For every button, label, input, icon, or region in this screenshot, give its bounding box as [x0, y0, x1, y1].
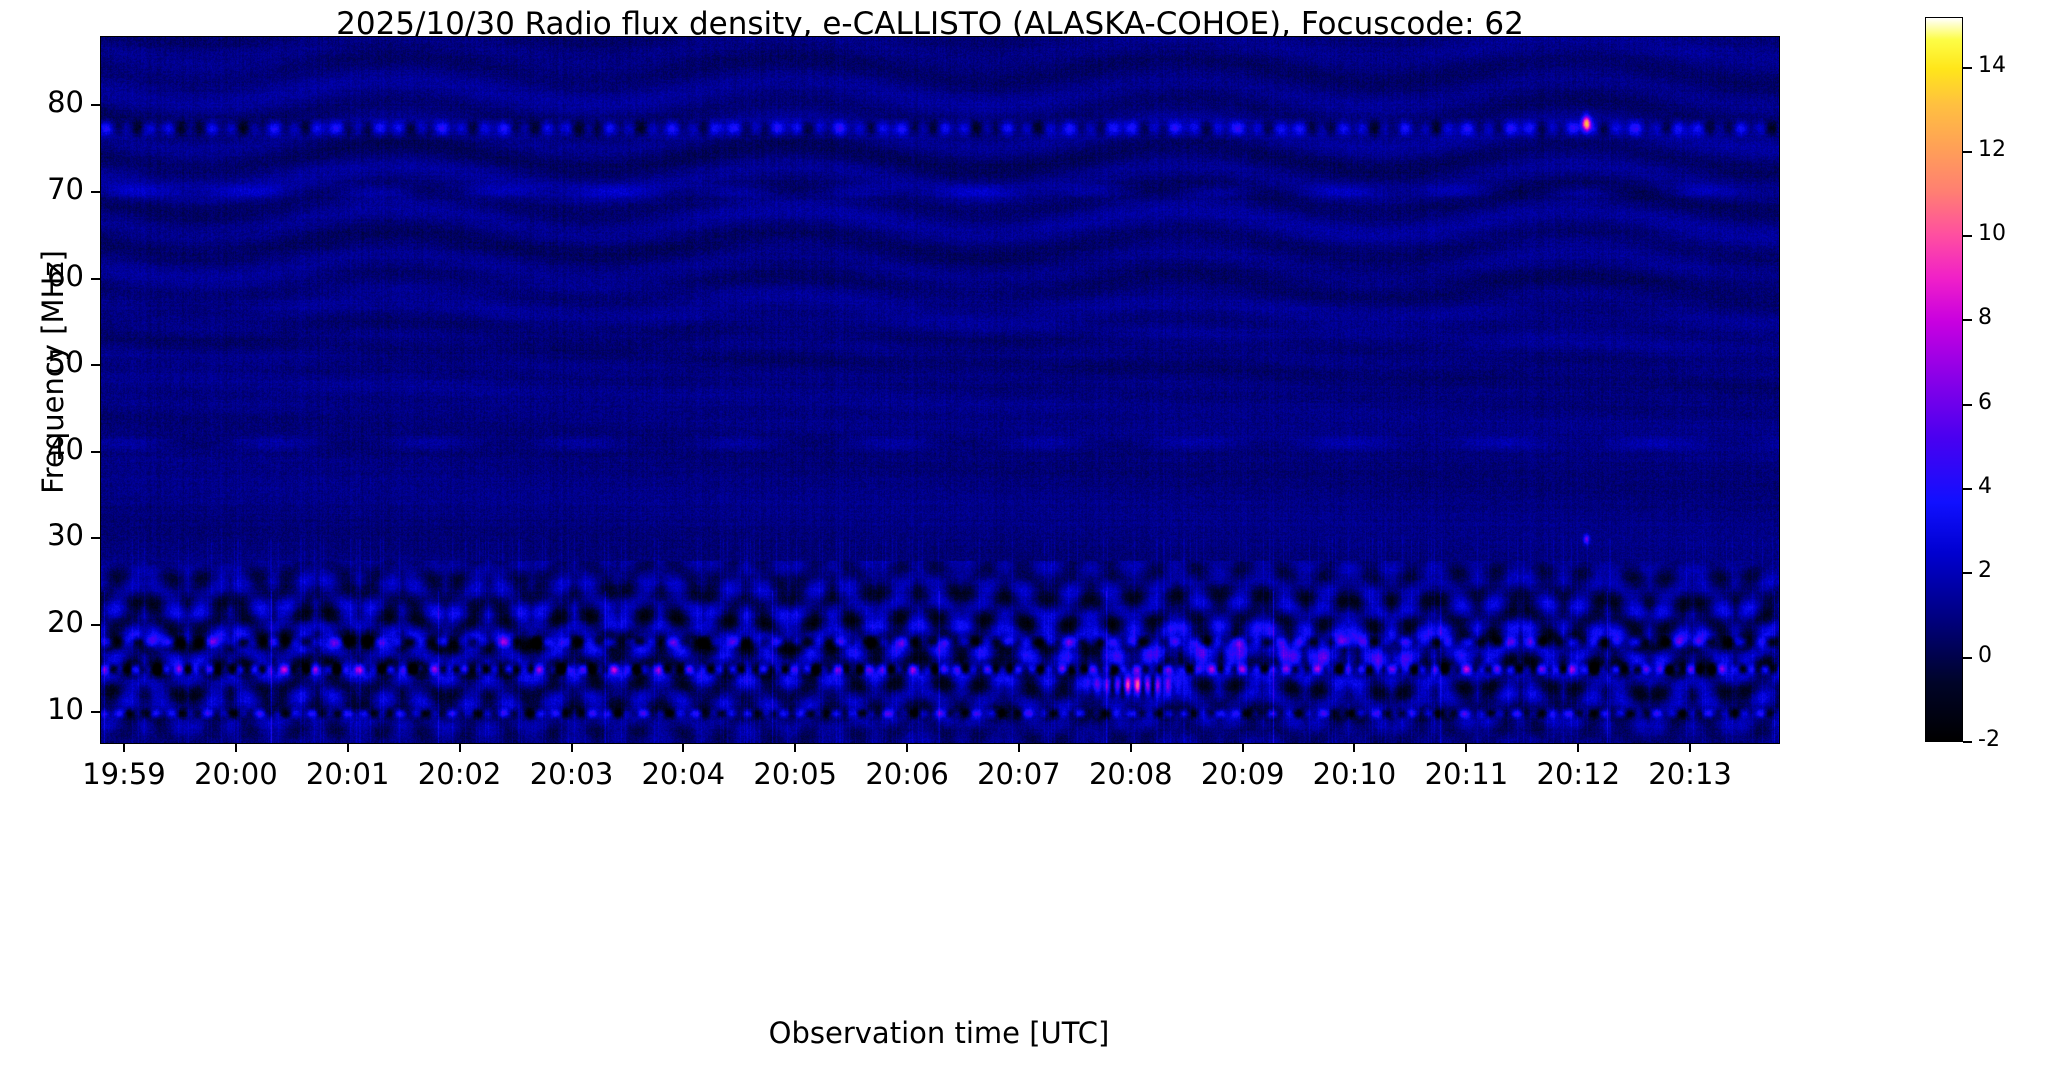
colorbar-tick-mark — [1963, 151, 1972, 153]
colorbar-tick-mark — [1963, 404, 1972, 406]
x-tick-mark — [1353, 743, 1355, 752]
y-tick-label: 60 — [47, 259, 84, 293]
x-tick-mark — [571, 743, 573, 752]
y-tick-label: 40 — [47, 432, 84, 466]
x-tick-mark — [235, 743, 237, 752]
x-tick-mark — [1689, 743, 1691, 752]
colorbar-tick-mark — [1963, 319, 1972, 321]
colorbar-tick-label: 6 — [1978, 390, 1992, 415]
x-tick-mark — [682, 743, 684, 752]
colorbar-tick-label: 2 — [1978, 558, 1992, 583]
colorbar-tick-label: 12 — [1978, 137, 2006, 162]
spectrogram-plot[interactable] — [100, 36, 1780, 744]
x-tick-mark — [1577, 743, 1579, 752]
y-tick-label: 10 — [47, 692, 84, 726]
colorbar-tick-label: 14 — [1978, 53, 2006, 78]
colorbar-tick-mark — [1963, 572, 1972, 574]
colorbar-tick-label: 10 — [1978, 221, 2006, 246]
x-tick-mark — [794, 743, 796, 752]
x-tick-mark — [459, 743, 461, 752]
y-tick-mark — [91, 624, 100, 626]
x-tick-mark — [906, 743, 908, 752]
y-tick-mark — [91, 537, 100, 539]
y-tick-mark — [91, 191, 100, 193]
y-tick-mark — [91, 278, 100, 280]
x-tick-mark — [123, 743, 125, 752]
y-tick-mark — [91, 451, 100, 453]
y-tick-label: 20 — [47, 605, 84, 639]
colorbar-tick-mark — [1963, 741, 1972, 743]
y-tick-mark — [91, 711, 100, 713]
x-tick-label: 20:13 — [1610, 757, 1770, 791]
colorbar-tick-mark — [1963, 657, 1972, 659]
y-tick-label: 70 — [47, 172, 84, 206]
colorbar-tick-label: -2 — [1978, 727, 2000, 752]
colorbar-gradient — [1925, 17, 1963, 742]
x-tick-mark — [1465, 743, 1467, 752]
colorbar-tick-label: 8 — [1978, 305, 1992, 330]
y-tick-label: 30 — [47, 518, 84, 552]
x-tick-mark — [347, 743, 349, 752]
colorbar[interactable] — [1925, 17, 1963, 742]
x-tick-mark — [1242, 743, 1244, 752]
colorbar-tick-label: 4 — [1978, 474, 1992, 499]
colorbar-tick-label: 0 — [1978, 643, 1992, 668]
spectrogram-figure: 2025/10/30 Radio flux density, e-CALLIST… — [0, 0, 2047, 1067]
x-tick-mark — [1130, 743, 1132, 752]
x-tick-mark — [1018, 743, 1020, 752]
colorbar-tick-mark — [1963, 235, 1972, 237]
colorbar-tick-mark — [1963, 67, 1972, 69]
spectrogram-image[interactable] — [101, 37, 1779, 743]
colorbar-tick-mark — [1963, 488, 1972, 490]
x-axis-label: Observation time [UTC] — [100, 1016, 1778, 1050]
y-tick-mark — [91, 364, 100, 366]
y-tick-label: 80 — [47, 85, 84, 119]
y-tick-label: 50 — [47, 345, 84, 379]
y-tick-mark — [91, 104, 100, 106]
